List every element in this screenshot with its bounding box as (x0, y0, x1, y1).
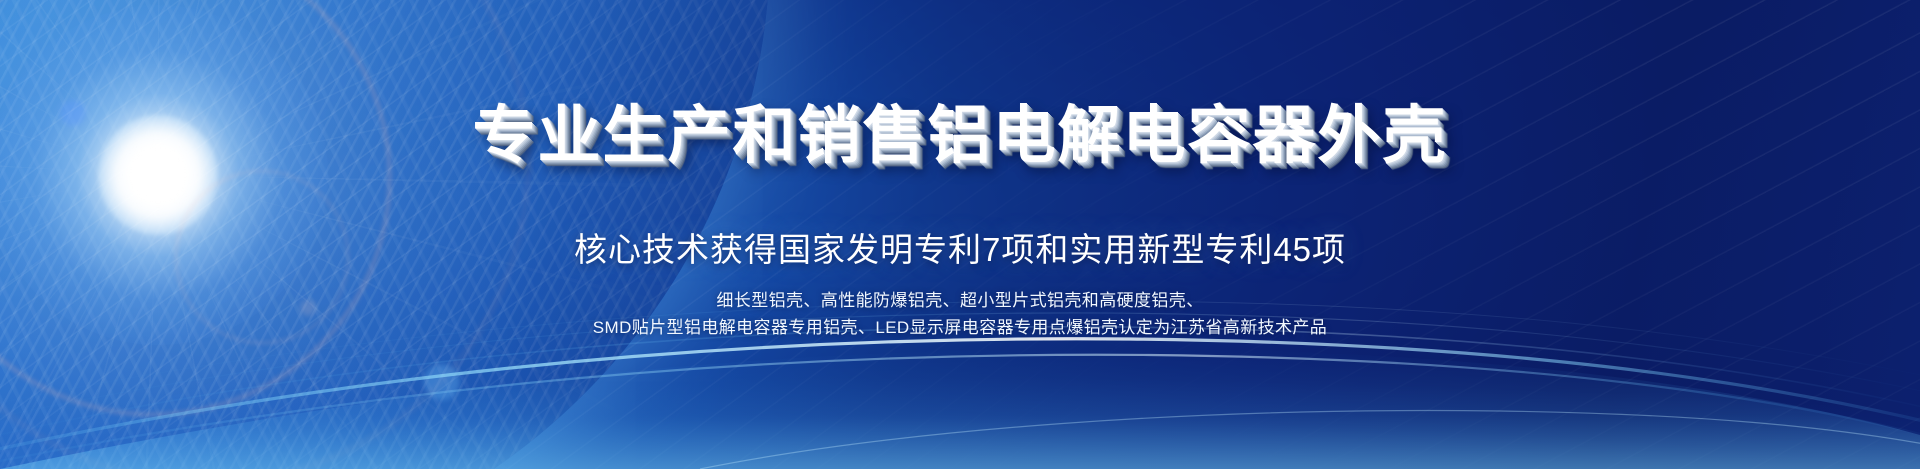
page-title: 专业生产和销售铝电解电容器外壳 (0, 96, 1920, 176)
banner-subtitle: 核心技术获得国家发明专利7项和实用新型专利45项 (0, 228, 1920, 272)
banner-description: 细长型铝壳、高性能防爆铝壳、超小型片式铝壳和高硬度铝壳、 SMD贴片型铝电解电容… (0, 287, 1920, 341)
hero-banner: 专业生产和销售铝电解电容器外壳 核心技术获得国家发明专利7项和实用新型专利45项… (0, 0, 1920, 469)
description-line-2: SMD贴片型铝电解电容器专用铝壳、LED显示屏电容器专用点爆铝壳认定为江苏省高新… (0, 314, 1920, 341)
description-line-1: 细长型铝壳、高性能防爆铝壳、超小型片式铝壳和高硬度铝壳、 (0, 287, 1920, 314)
banner-text-block: 专业生产和销售铝电解电容器外壳 核心技术获得国家发明专利7项和实用新型专利45项… (0, 0, 1920, 469)
